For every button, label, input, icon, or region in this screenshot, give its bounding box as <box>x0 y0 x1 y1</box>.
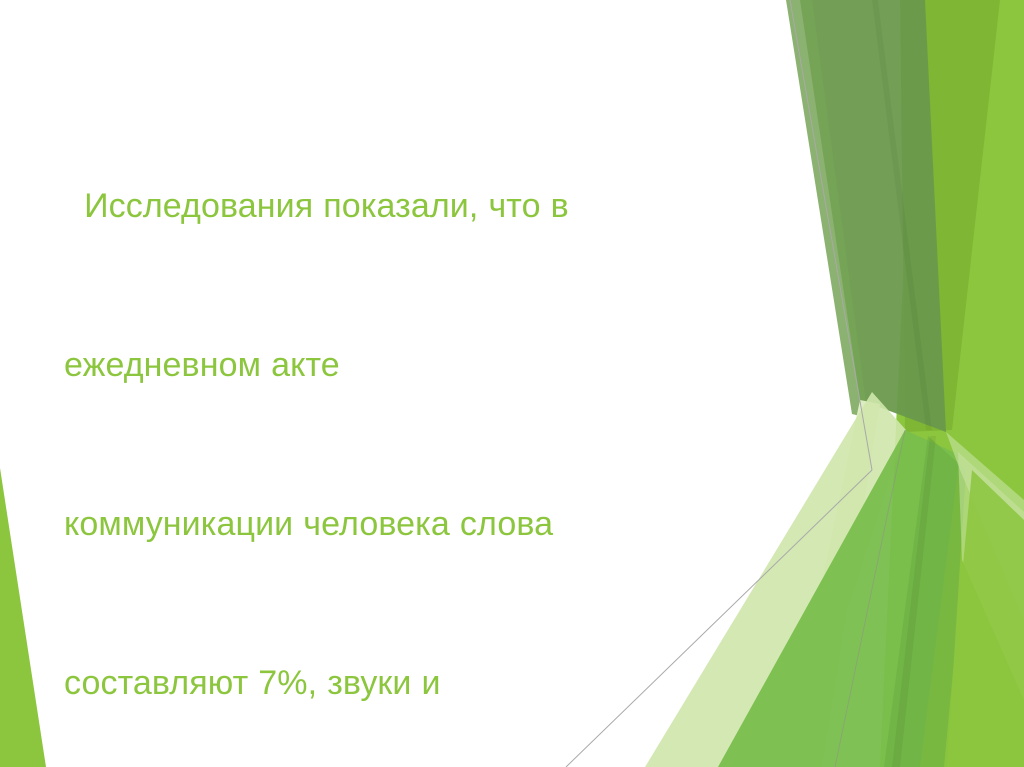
shape-top-dark-wedge <box>800 0 946 432</box>
presentation-slide: Исследования показали, что в ежедневном … <box>0 0 1024 767</box>
body-line-1: Исследования показали, что в <box>64 180 764 233</box>
shape-right-edge-column <box>880 0 1024 767</box>
hairline-bottom-tail <box>835 430 905 767</box>
shape-waist-pale-sliver <box>783 400 880 767</box>
hairline-upper <box>790 0 872 470</box>
body-line-4: составляют 7%, звуки и <box>64 657 764 710</box>
shape-waist-right-pale <box>946 432 1024 620</box>
shape-right-pale-highlight <box>958 452 1024 700</box>
body-line-2: ежедневном акте <box>64 339 764 392</box>
shape-right-bright-overlay <box>944 470 1024 767</box>
shape-bottom-dark-accent <box>884 436 966 767</box>
shape-bottom-left-triangle <box>0 468 46 767</box>
body-line-3: коммуникации человека слова <box>64 498 764 551</box>
shape-top-pale-sliver <box>786 0 868 418</box>
shape-top-bright-wedge <box>900 0 1000 432</box>
slide-body-text: Исследования показали, что в ежедневном … <box>64 74 764 767</box>
shape-seam-upper <box>872 0 932 430</box>
shape-seam-lower <box>892 436 936 767</box>
